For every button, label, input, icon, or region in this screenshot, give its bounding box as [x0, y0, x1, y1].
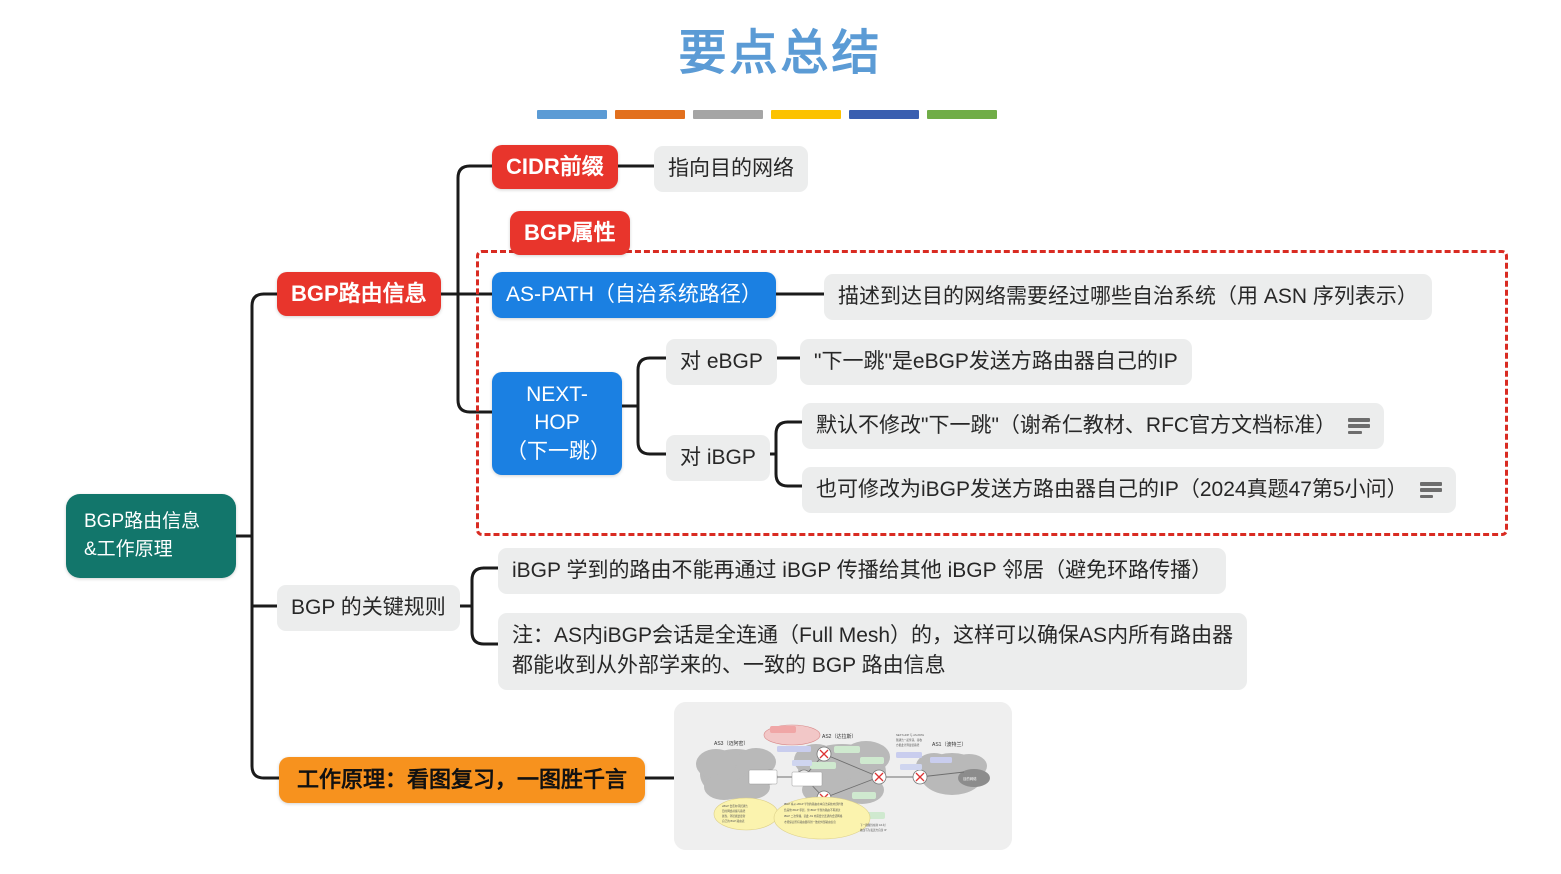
- svg-text:下一跳属性在跨 AS 时: 下一跳属性在跨 AS 时: [860, 823, 886, 827]
- node-for-ibgp-detail-1-text: 默认不修改"下一跳"（谢希仁教材、RFC官方文档标准）: [816, 411, 1336, 441]
- svg-text:才能保证所有路由器得到一致的外部路由信息: 才能保证所有路由器得到一致的外部路由信息: [784, 820, 836, 824]
- node-next-hop[interactable]: NEXT-HOP （下一跳）: [492, 372, 622, 475]
- svg-text:iBGP 二次传播，因此 AS 内需要全连通的会话网格: iBGP 二次传播，因此 AS 内需要全连通的会话网格: [784, 814, 843, 818]
- node-as-path[interactable]: AS-PATH（自治系统路径）: [492, 272, 776, 318]
- svg-text:被改写为发送方自身 IP: 被改写为发送方自身 IP: [860, 828, 887, 832]
- svg-text:iBGP 将从 eBGP 学到的路由在本自治系统内部扩散: iBGP 将从 eBGP 学到的路由在本自治系统内部扩散: [784, 802, 844, 806]
- node-bgp-route-info[interactable]: BGP路由信息: [277, 272, 441, 316]
- node-bgp-attributes[interactable]: BGP属性: [510, 211, 630, 255]
- svg-text:随通告一起传递，接收: 随通告一起传递，接收: [896, 738, 922, 742]
- mindmap-canvas: 要点总结 BGP路由信息 &工作原理 BGP路由信息 CIDR前缀 指向目的网络…: [0, 0, 1561, 874]
- topology-thumbnail-svg: AS3（迈阿密） AS2（达拉斯） AS1（波特兰） 目的网络: [674, 702, 1012, 850]
- svg-text:属性，邻居据此更新: 属性，邻居据此更新: [722, 814, 746, 818]
- title-color-bars: [537, 110, 997, 119]
- wire-routeinfo-vertical: [458, 166, 470, 412]
- wire-keyrules-vertical: [472, 568, 484, 644]
- node-working-principle[interactable]: 工作原理：看图复习，一图胜千言: [279, 757, 645, 803]
- page-title-block: 要点总结: [0, 28, 1561, 81]
- svg-text:eBGP 会话向邻居通告: eBGP 会话向邻居通告: [722, 804, 748, 808]
- svg-text:目的网络: 目的网络: [963, 776, 977, 781]
- note-lines-icon[interactable]: [1348, 418, 1370, 434]
- title-bar-orange: [615, 110, 685, 119]
- title-bar-navy: [849, 110, 919, 119]
- node-as-path-detail[interactable]: 描述到达目的网络需要经过哪些自治系统（用 ASN 序列表示）: [824, 274, 1432, 320]
- node-cidr-prefix-detail[interactable]: 指向目的网络: [654, 146, 808, 192]
- svg-text:NEXT-HOP 与 AS-PATH: NEXT-HOP 与 AS-PATH: [896, 733, 924, 737]
- node-key-rule-1[interactable]: iBGP 学到的路由不能再通过 iBGP 传播给其他 iBGP 邻居（避免环路传…: [498, 548, 1226, 594]
- node-for-ibgp-detail-2-text: 也可修改为iBGP发送方路由器自己的IP（2024真题47第5小问）: [816, 475, 1408, 505]
- node-key-rule-2[interactable]: 注：AS内iBGP会话是全连通（Full Mesh）的，这样可以确保AS内所有路…: [498, 613, 1247, 690]
- node-for-ibgp[interactable]: 对 iBGP: [666, 435, 770, 481]
- working-principle-thumbnail[interactable]: AS3（迈阿密） AS2（达拉斯） AS1（波特兰） 目的网络: [674, 702, 1012, 850]
- svg-text:自己的 BGP 路由表: 自己的 BGP 路由表: [722, 819, 745, 823]
- node-bgp-key-rules[interactable]: BGP 的关键规则: [277, 585, 460, 631]
- svg-text:AS2（达拉斯）: AS2（达拉斯）: [822, 733, 856, 740]
- node-for-ibgp-detail-2[interactable]: 也可修改为iBGP发送方路由器自己的IP（2024真题47第5小问）: [802, 467, 1456, 513]
- title-bar-yellow: [771, 110, 841, 119]
- node-for-ibgp-detail-1[interactable]: 默认不修改"下一跳"（谢希仁教材、RFC官方文档标准）: [802, 403, 1384, 449]
- title-bar-gray: [693, 110, 763, 119]
- node-for-ebgp-detail[interactable]: "下一跳"是eBGP发送方路由器自己的IP: [800, 339, 1192, 385]
- root-node[interactable]: BGP路由信息 &工作原理: [66, 494, 236, 578]
- node-cidr-prefix[interactable]: CIDR前缀: [492, 145, 618, 189]
- note-lines-icon[interactable]: [1420, 482, 1442, 498]
- svg-text:给其他 iBGP 邻居，但 iBGP 学到的路由不再通过: 给其他 iBGP 邻居，但 iBGP 学到的路由不再通过: [784, 808, 841, 812]
- wire-root-trunk-vertical: [252, 294, 264, 778]
- title-bar-green: [927, 110, 997, 119]
- svg-text:方据此计算最优路径: 方据此计算最优路径: [896, 743, 920, 747]
- svg-text:目的网络前缀与路径: 目的网络前缀与路径: [722, 809, 746, 813]
- svg-text:AS1（波特兰）: AS1（波特兰）: [932, 741, 966, 748]
- svg-text:AS3（迈阿密）: AS3（迈阿密）: [714, 740, 748, 747]
- node-for-ebgp[interactable]: 对 eBGP: [666, 339, 777, 385]
- page-title: 要点总结: [0, 28, 1561, 81]
- title-bar-blue: [537, 110, 607, 119]
